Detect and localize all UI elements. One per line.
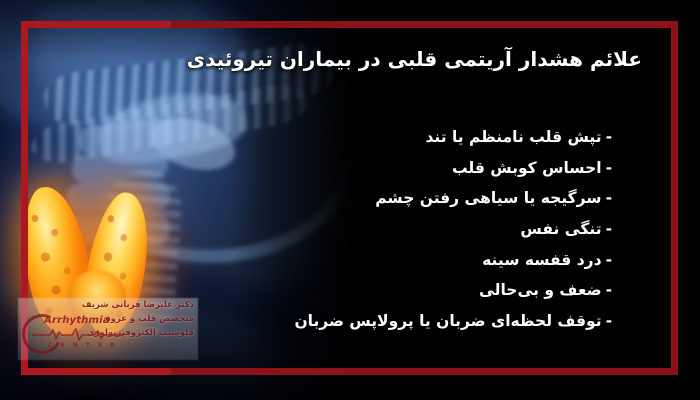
list-item-label: تپش قلب نامنظم یا تند <box>425 128 601 146</box>
doctor-name: دکتر علیرضا قربانی شریف <box>82 299 194 313</box>
logo-subtext: C E N T E R <box>48 342 118 349</box>
bullet-dash: - <box>606 159 612 177</box>
bullet-dash: - <box>606 220 612 238</box>
list-item-label: درد قفسه سینه <box>482 251 601 269</box>
bullet-dash: - <box>606 189 612 207</box>
list-item-label: ضعف و بی‌حالی <box>479 281 602 299</box>
logo-wordmark: Arrhythmia <box>44 315 110 326</box>
list-item: -درد قفسه سینه <box>72 245 612 276</box>
list-item: -تپش قلب نامنظم یا تند <box>72 122 612 153</box>
bullet-dash: - <box>606 251 612 269</box>
clinic-watermark: دکتر علیرضا قربانی شریف متخصص قلب و عروق… <box>18 298 198 360</box>
list-item-label: توقف لحظه‌ای ضربان یا پرولاپس ضربان <box>294 312 601 330</box>
ecg-waveform-icon <box>32 327 124 341</box>
list-item-label: تنگی نفس <box>520 220 601 238</box>
list-item-label: سرگیجه یا سیاهی رفتن چشم <box>375 189 601 207</box>
bullet-dash: - <box>606 281 612 299</box>
arrhythmia-center-logo: Arrhythmia C E N T E R <box>22 312 126 354</box>
list-item: -احساس کوبش قلب <box>72 153 612 184</box>
bullet-dash: - <box>606 312 612 330</box>
thyroid-arrhythmia-banner: علائم هشدار آریتمی قلبی در بیماران تیروئ… <box>0 0 700 400</box>
bullet-dash: - <box>606 128 612 146</box>
list-item-label: احساس کوبش قلب <box>452 159 602 177</box>
list-item: -سرگیجه یا سیاهی رفتن چشم <box>72 183 612 214</box>
page-title: علائم هشدار آریتمی قلبی در بیماران تیروئ… <box>82 44 642 74</box>
list-item: -تنگی نفس <box>72 214 612 245</box>
